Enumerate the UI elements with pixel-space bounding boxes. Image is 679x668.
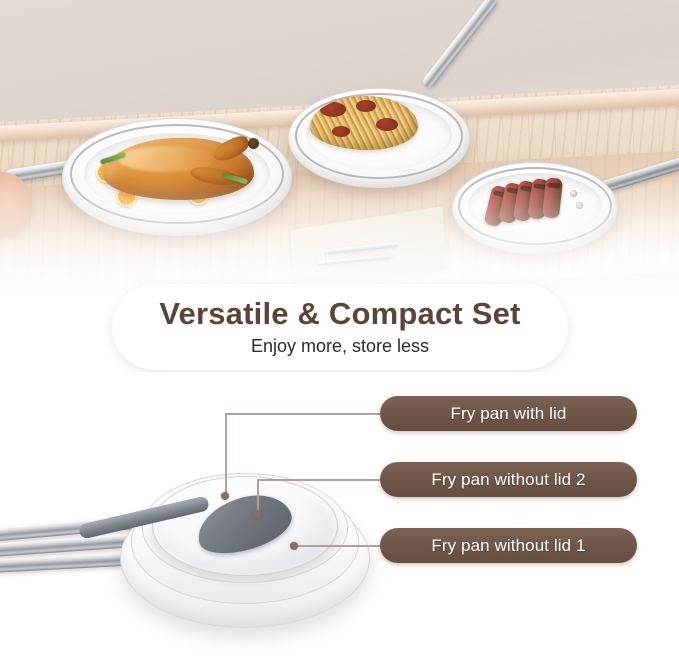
leader-dot-1	[221, 492, 229, 500]
hero-product-photo	[0, 0, 679, 300]
pasta-food	[310, 96, 418, 150]
sauce-piece	[320, 102, 346, 117]
leader-dot-2	[253, 510, 261, 518]
callout-fry-pan-with-lid[interactable]: Fry pan with lid	[380, 396, 637, 431]
nested-stack-section: Fry pan with lid Fry pan without lid 2 F…	[0, 372, 679, 668]
leader-line-vertical-1	[225, 413, 227, 496]
callout-label: Fry pan without lid 2	[431, 470, 585, 490]
sauce-piece	[376, 118, 398, 131]
callout-fry-pan-without-lid-1[interactable]: Fry pan without lid 1	[380, 528, 637, 563]
page-subtitle: Enjoy more, store less	[251, 336, 429, 357]
leader-line-vertical-2	[257, 479, 259, 514]
leader-line-horizontal-2	[257, 479, 380, 481]
sauce-piece	[332, 126, 350, 137]
chicken-bone-tip	[248, 138, 259, 149]
callout-label: Fry pan without lid 1	[431, 536, 585, 556]
page-title: Versatile & Compact Set	[159, 297, 520, 331]
photo-bottom-fade	[0, 180, 679, 300]
leader-line-horizontal-1	[225, 413, 380, 415]
callout-fry-pan-without-lid-2[interactable]: Fry pan without lid 2	[380, 462, 637, 497]
sauce-piece	[356, 100, 376, 112]
leader-line-horizontal-3	[294, 545, 380, 547]
callout-label: Fry pan with lid	[451, 404, 567, 424]
leader-dot-3	[290, 542, 298, 550]
headline-banner: Versatile & Compact Set Enjoy more, stor…	[112, 284, 568, 370]
product-infographic-page: Versatile & Compact Set Enjoy more, stor…	[0, 0, 679, 668]
